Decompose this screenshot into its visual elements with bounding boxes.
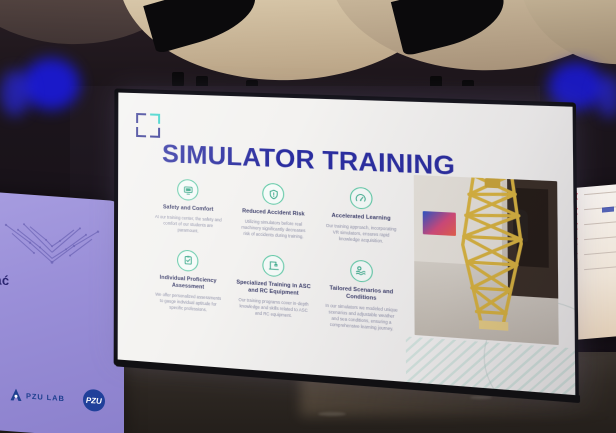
floor-scuff	[318, 412, 346, 416]
sponsor-text-line	[584, 236, 616, 241]
feature-heading: Accelerated Learning	[320, 212, 402, 224]
slide-photo	[414, 175, 559, 345]
sponsor-text-line	[584, 191, 616, 196]
feature-card: Safety and Comfort At our training cente…	[150, 178, 227, 236]
stage-photo-scene: aufać PZU LAB PZU	[0, 0, 616, 433]
frame-corners-icon	[136, 113, 160, 138]
feature-body: Utilizing simulators before real machine…	[234, 218, 313, 240]
pzu-lab-mark-icon	[10, 388, 22, 402]
blue-stage-light	[0, 70, 30, 116]
feature-card: Accelerated Learning Our training approa…	[320, 185, 402, 245]
feature-heading: Tailored Scenarios and Conditions	[321, 285, 403, 305]
banner-logo-group: PZU LAB PZU	[10, 383, 105, 412]
feature-heading: Safety and Comfort	[150, 204, 227, 215]
crane-icon	[262, 254, 284, 277]
feature-card: Reduced Accident Risk Utilizing simulato…	[234, 181, 313, 240]
left-brand-banner: aufać PZU LAB PZU	[0, 190, 124, 433]
sponsor-text-line	[584, 251, 616, 256]
feature-body: We offer personalized assessments to gau…	[150, 291, 227, 314]
pzu-lab-logo: PZU LAB	[10, 388, 65, 405]
feature-heading: Reduced Accident Risk	[234, 208, 313, 219]
blue-stage-light	[596, 74, 616, 118]
feature-body: Our training approach, incorporating VR …	[321, 223, 403, 246]
ceiling	[0, 0, 616, 96]
feature-row: Safety and Comfort At our training cente…	[150, 178, 410, 246]
feature-card: Individual Proficiency Assessment We off…	[150, 248, 227, 321]
feature-body: At our training center, the safety and c…	[150, 214, 227, 236]
speed-gauge-icon	[350, 187, 373, 210]
feature-card: Tailored Scenarios and Conditions In our…	[321, 258, 403, 333]
weather-waves-icon	[350, 259, 373, 282]
sponsor-text-line	[584, 266, 616, 271]
banner-accent	[602, 207, 614, 213]
sponsor-text-line	[584, 221, 616, 226]
monitor-icon	[177, 179, 198, 201]
page-title: SIMULATOR TRAINING	[162, 140, 455, 182]
shield-alert-icon	[262, 183, 284, 206]
feature-row: Individual Proficiency Assessment We off…	[150, 248, 410, 334]
pzu-badge-text: PZU	[86, 395, 102, 405]
projection-screen: SIMULATOR TRAINING Safety and Comfort At…	[118, 93, 576, 397]
feature-heading: Individual Proficiency Assessment	[150, 274, 227, 293]
clipboard-check-icon	[177, 249, 198, 272]
feature-body: In our simulators we modeled unique scen…	[321, 303, 403, 333]
presentation-slide: SIMULATOR TRAINING Safety and Comfort At…	[118, 93, 576, 397]
pzu-badge: PZU	[83, 389, 105, 413]
feature-body: Our training programs cover in-depth kno…	[234, 297, 313, 321]
crane-rig-illustration	[451, 175, 536, 335]
feature-card: Specialized Training in ASC and RC Equip…	[234, 253, 313, 327]
handshake-icon	[0, 210, 104, 282]
feature-grid: Safety and Comfort At our training cente…	[150, 178, 410, 334]
blue-stage-light	[22, 58, 80, 110]
pzu-lab-logo-text: PZU LAB	[26, 391, 65, 403]
feature-heading: Specialized Training in ASC and RC Equip…	[234, 279, 313, 299]
floor-scuff	[470, 396, 492, 399]
banner-slogan-text: aufać	[0, 271, 9, 289]
